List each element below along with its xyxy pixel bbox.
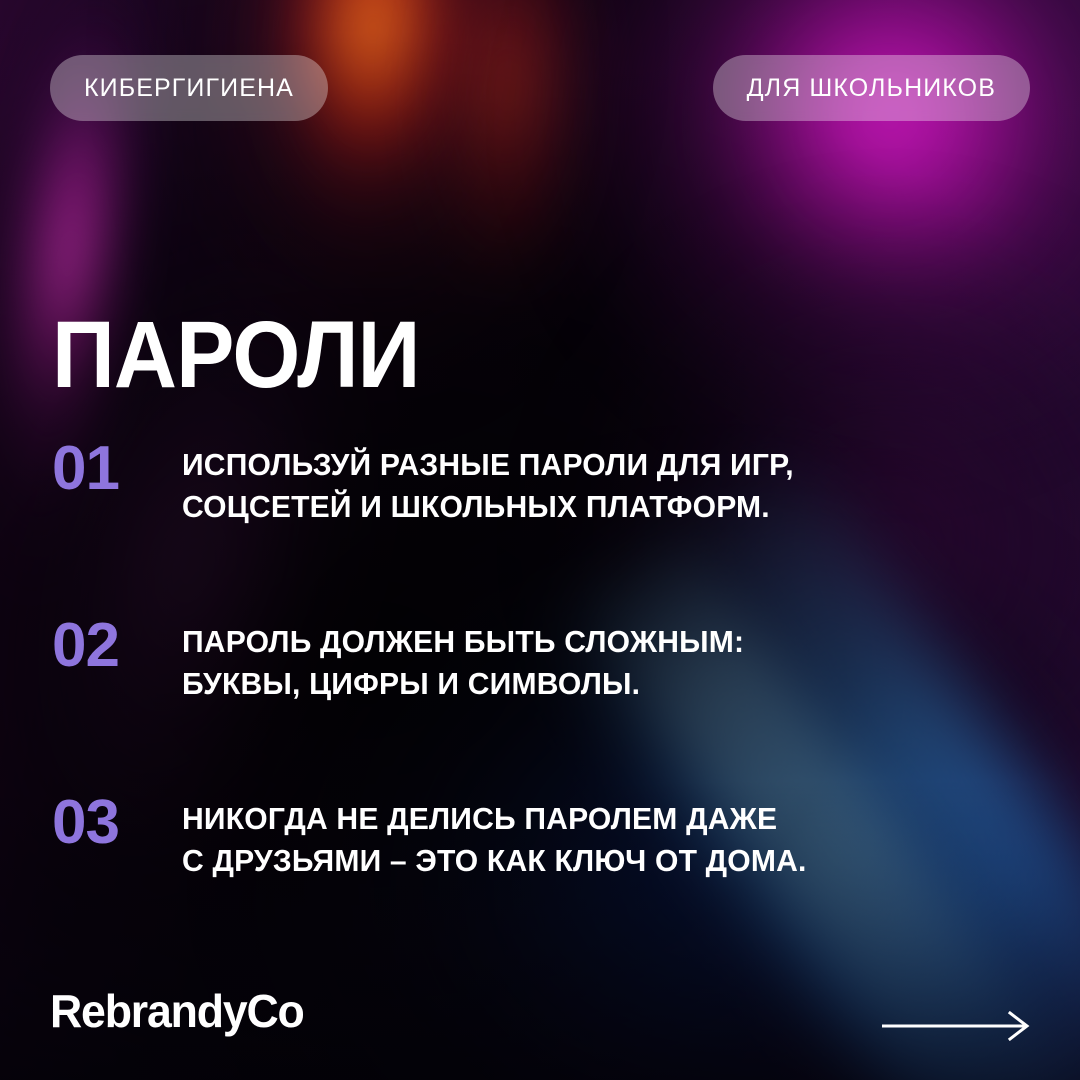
list-item-text: ПАРОЛЬ ДОЛЖЕН БЫТЬ СЛОЖНЫМ: БУКВЫ, ЦИФРЫ… [182,615,987,704]
list-item-text: ИСПОЛЬЗУЙ РАЗНЫЕ ПАРОЛИ ДЛЯ ИГР, СОЦСЕТЕ… [182,438,987,527]
list-item-line: СОЦСЕТЕЙ И ШКОЛЬНЫХ ПЛАТФОРМ. [182,486,987,528]
list-item: 01 ИСПОЛЬЗУЙ РАЗНЫЕ ПАРОЛИ ДЛЯ ИГР, СОЦС… [52,438,1012,527]
list-item-text: НИКОГДА НЕ ДЕЛИСЬ ПАРОЛЕМ ДАЖЕ С ДРУЗЬЯМ… [182,792,987,881]
arrow-right-icon[interactable] [882,1011,1032,1041]
badge-audience-label: ДЛЯ ШКОЛЬНИКОВ [747,76,996,101]
list-item: 02 ПАРОЛЬ ДОЛЖЕН БЫТЬ СЛОЖНЫМ: БУКВЫ, ЦИ… [52,615,1012,704]
badge-topic[interactable]: КИБЕРГИГИЕНА [50,55,328,121]
badge-audience[interactable]: ДЛЯ ШКОЛЬНИКОВ [713,55,1030,121]
list-item-line: С ДРУЗЬЯМИ – ЭТО КАК КЛЮЧ ОТ ДОМА. [182,840,987,882]
brand-logo: RebrandyCo [50,988,304,1034]
list-item-line: ПАРОЛЬ ДОЛЖЕН БЫТЬ СЛОЖНЫМ: [182,621,987,663]
poster-canvas: КИБЕРГИГИЕНА ДЛЯ ШКОЛЬНИКОВ ПАРОЛИ 01 ИС… [0,0,1080,1080]
list-item-number: 02 [52,615,182,677]
list-item-number: 01 [52,438,182,500]
content-layer: КИБЕРГИГИЕНА ДЛЯ ШКОЛЬНИКОВ ПАРОЛИ 01 ИС… [0,0,1080,1080]
page-title: ПАРОЛИ [52,310,420,400]
list-item-number: 03 [52,792,182,854]
list-item-line: ИСПОЛЬЗУЙ РАЗНЫЕ ПАРОЛИ ДЛЯ ИГР, [182,444,987,486]
list-item-line: БУКВЫ, ЦИФРЫ И СИМВОЛЫ. [182,663,987,705]
list-item-line: НИКОГДА НЕ ДЕЛИСЬ ПАРОЛЕМ ДАЖЕ [182,798,987,840]
tips-list: 01 ИСПОЛЬЗУЙ РАЗНЫЕ ПАРОЛИ ДЛЯ ИГР, СОЦС… [52,438,1012,881]
badge-topic-label: КИБЕРГИГИЕНА [84,76,294,101]
list-item: 03 НИКОГДА НЕ ДЕЛИСЬ ПАРОЛЕМ ДАЖЕ С ДРУЗ… [52,792,1012,881]
